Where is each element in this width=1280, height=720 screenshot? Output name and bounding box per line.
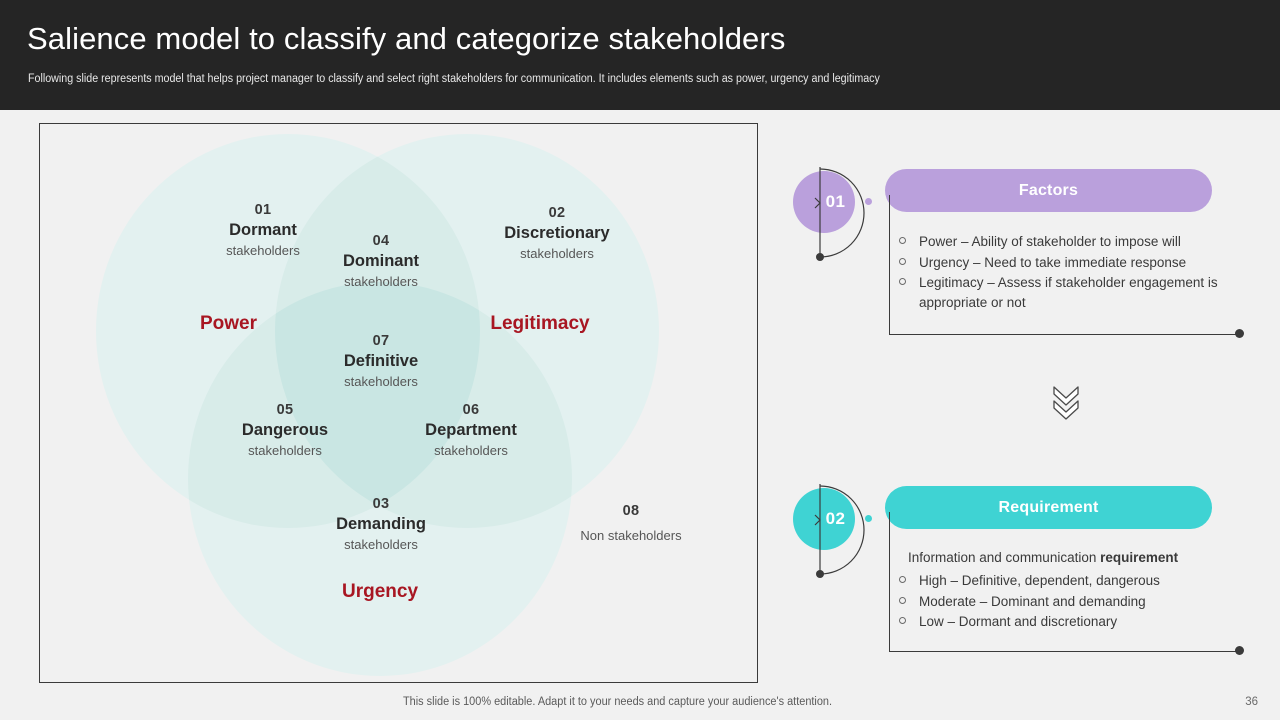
requirement-body-box: [889, 512, 1239, 652]
list-item-text: Urgency – Need to take immediate respons…: [919, 255, 1186, 270]
segment-number: 06: [371, 402, 571, 419]
venn-segment-03: 03 Demanding stakeholders: [281, 496, 481, 552]
list-item: Urgency – Need to take immediate respons…: [896, 253, 1236, 273]
requirement-bullet-list: High – Definitive, dependent, dangerous …: [896, 571, 1236, 633]
factors-title-pill[interactable]: Factors: [885, 169, 1212, 212]
legitimacy-axis-label: Legitimacy: [440, 313, 640, 335]
venn-segment-02: 02 Discretionary stakeholders: [457, 205, 657, 261]
venn-segment-08: 08 Non stakeholders: [531, 503, 731, 543]
factors-title-text: Factors: [1019, 182, 1078, 200]
badge-side-dot: [865, 515, 872, 522]
list-item-text: Legitimacy – Assess if stakeholder engag…: [919, 275, 1218, 310]
segment-name: Dangerous: [185, 421, 385, 440]
bullet-circle-icon: [899, 597, 906, 604]
bullet-circle-icon: [899, 258, 906, 265]
list-item-text: Low – Dormant and discretionary: [919, 614, 1117, 629]
list-item: Legitimacy – Assess if stakeholder engag…: [896, 273, 1236, 312]
segment-number: 01: [163, 202, 363, 219]
badge-side-dot: [865, 198, 872, 205]
list-item: Low – Dormant and discretionary: [896, 612, 1236, 632]
list-item-text: Power – Ability of stakeholder to impose…: [919, 234, 1181, 249]
badge-number: 01: [793, 171, 855, 233]
requirement-lead-prefix: Information and communication: [908, 550, 1100, 565]
list-item-text: Moderate – Dominant and demanding: [919, 594, 1146, 609]
page-number: 36: [1245, 696, 1258, 708]
double-chevron-down-icon: [1050, 383, 1082, 423]
list-item-text: High – Definitive, dependent, dangerous: [919, 573, 1160, 588]
factors-badge[interactable]: 01: [793, 145, 889, 275]
segment-sub: stakeholders: [281, 274, 481, 289]
segment-sub: stakeholders: [281, 374, 481, 389]
segment-name: Demanding: [281, 515, 481, 534]
venn-stage: 01 Dormant stakeholders 02 Discretionary…: [40, 124, 757, 682]
factors-body-end-dot: [1235, 329, 1244, 338]
badge-number: 02: [793, 488, 855, 550]
segment-name: Dominant: [281, 252, 481, 271]
segment-number: 05: [185, 402, 385, 419]
venn-segment-07: 07 Definitive stakeholders: [281, 333, 481, 389]
segment-number: 02: [457, 205, 657, 222]
requirement-title-pill[interactable]: Requirement: [885, 486, 1212, 529]
list-item: Power – Ability of stakeholder to impose…: [896, 232, 1236, 252]
venn-segment-05: 05 Dangerous stakeholders: [185, 402, 385, 458]
bullet-circle-icon: [899, 617, 906, 624]
slide-header: Salience model to classify and categoriz…: [0, 0, 1280, 110]
venn-segment-04: 04 Dominant stakeholders: [281, 233, 481, 289]
segment-number: 03: [281, 496, 481, 513]
requirement-lead-text: Information and communication requiremen…: [908, 548, 1178, 568]
segment-sub: stakeholders: [281, 537, 481, 552]
factors-bullet-list: Power – Ability of stakeholder to impose…: [896, 232, 1236, 313]
segment-sub: stakeholders: [185, 443, 385, 458]
segment-number: 07: [281, 333, 481, 350]
segment-name: Discretionary: [457, 224, 657, 243]
segment-sub: stakeholders: [371, 443, 571, 458]
bullet-circle-icon: [899, 278, 906, 285]
requirement-title-text: Requirement: [999, 499, 1099, 517]
segment-number: 08: [531, 503, 731, 520]
factors-body-box: [889, 195, 1239, 335]
urgency-axis-label: Urgency: [280, 581, 480, 603]
list-item: High – Definitive, dependent, dangerous: [896, 571, 1236, 591]
power-axis-label: Power: [145, 313, 312, 335]
page-subtitle: Following slide represents model that he…: [28, 73, 880, 85]
segment-sub: Non stakeholders: [531, 528, 731, 543]
venn-segment-06: 06 Department stakeholders: [371, 402, 571, 458]
page-title: Salience model to classify and categoriz…: [27, 21, 785, 57]
slide-root: Salience model to classify and categoriz…: [0, 0, 1280, 720]
requirement-body-end-dot: [1235, 646, 1244, 655]
list-item: Moderate – Dominant and demanding: [896, 592, 1236, 612]
segment-name: Definitive: [281, 352, 481, 371]
segment-number: 04: [281, 233, 481, 250]
requirement-badge[interactable]: 02: [793, 462, 889, 592]
segment-name: Department: [371, 421, 571, 440]
requirement-lead-bold: requirement: [1100, 550, 1178, 565]
bullet-circle-icon: [899, 576, 906, 583]
segment-sub: stakeholders: [457, 246, 657, 261]
footer-note: This slide is 100% editable. Adapt it to…: [403, 696, 832, 708]
bullet-circle-icon: [899, 237, 906, 244]
venn-diagram-panel: 01 Dormant stakeholders 02 Discretionary…: [39, 123, 758, 683]
